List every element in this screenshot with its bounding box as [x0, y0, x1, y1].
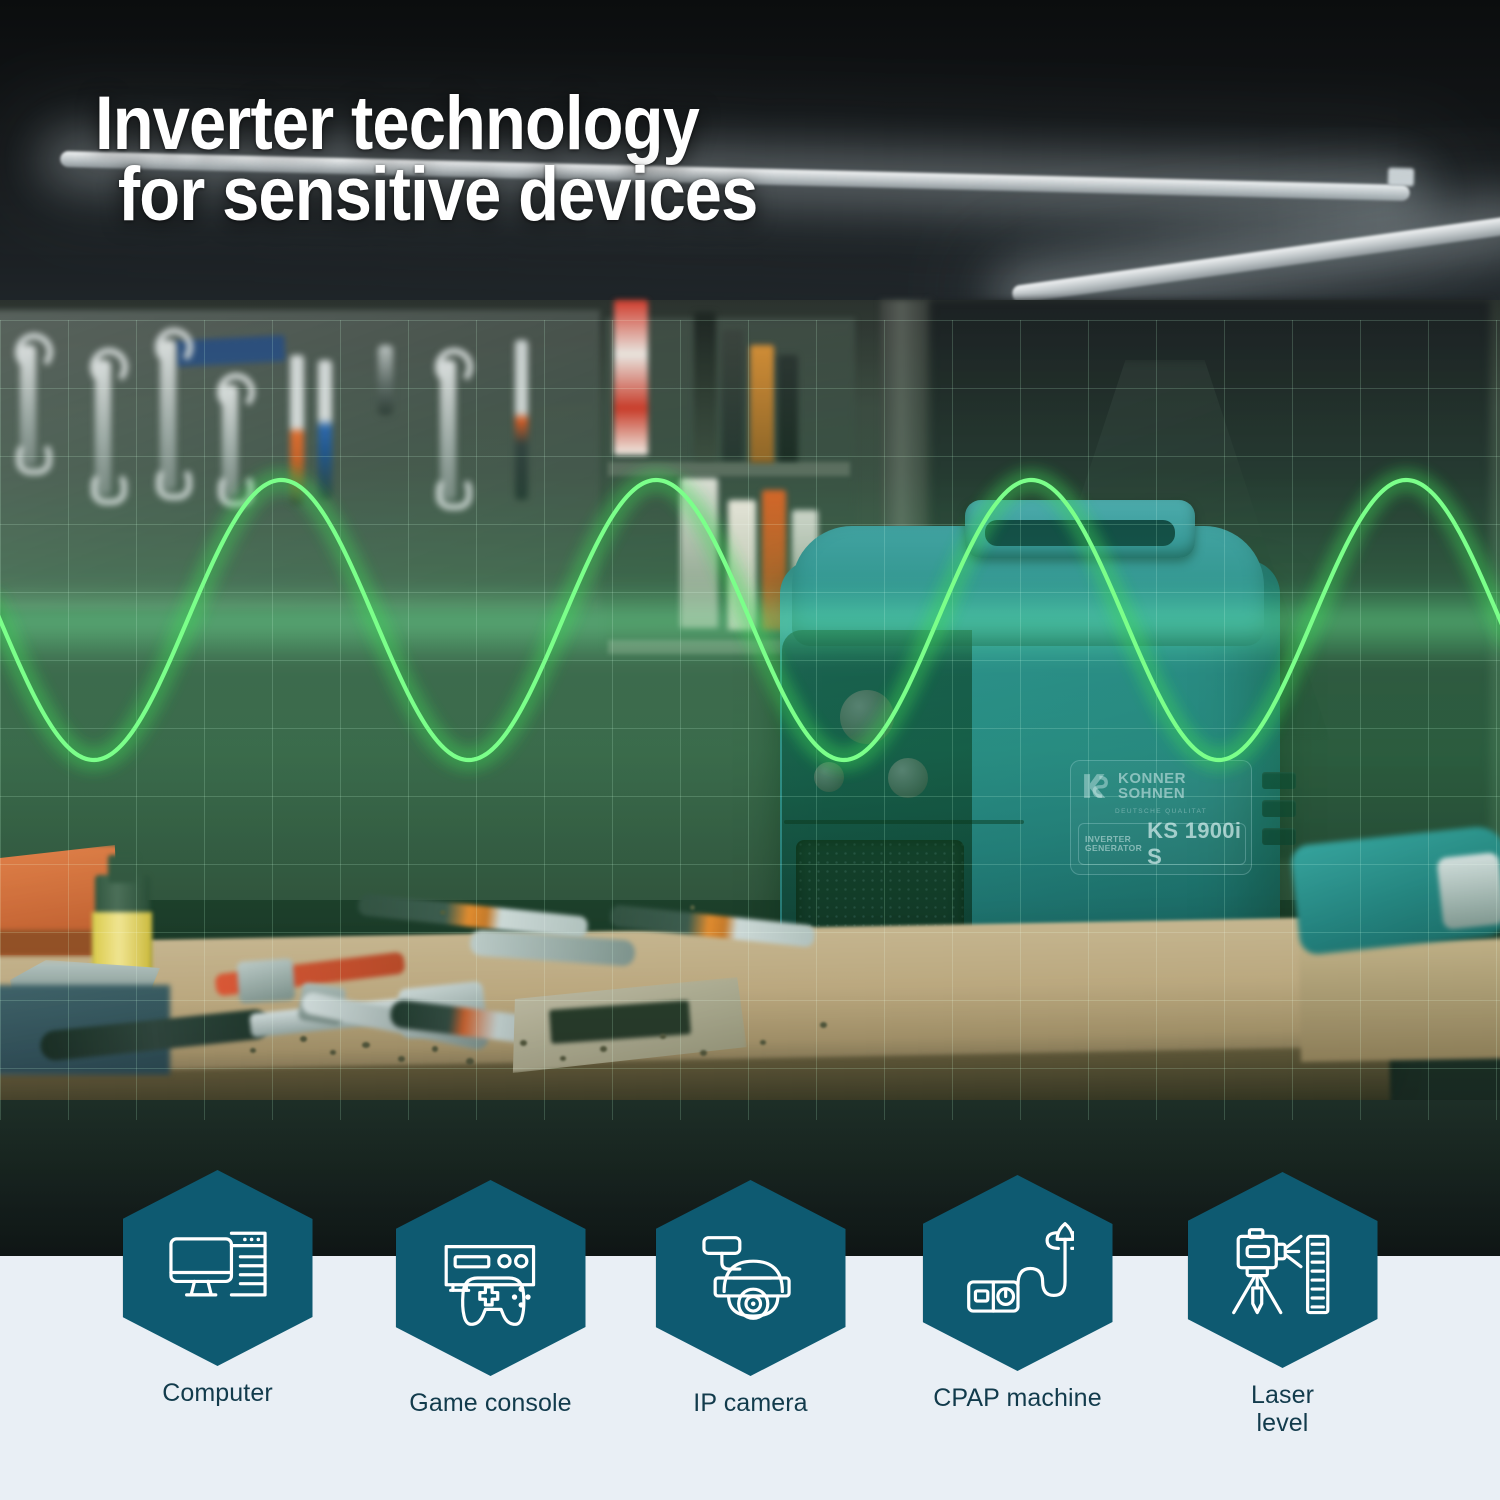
- generator-handle-slot: [985, 520, 1175, 546]
- device-label: Laserlevel: [1180, 1382, 1385, 1437]
- generator-seam: [784, 820, 1024, 824]
- model-designation: INVERTER GENERATOR KS 1900i S: [1078, 823, 1246, 865]
- generator-socket: [814, 762, 844, 792]
- bottle: [750, 345, 774, 463]
- device-hex-ip-camera[interactable]: [656, 1180, 846, 1376]
- wrench-icon: [440, 360, 456, 500]
- generator-knob: [888, 758, 928, 798]
- headline-line-2: for sensitive devices: [118, 159, 940, 230]
- socket-piece: [237, 958, 296, 1004]
- wrench-icon: [378, 345, 393, 415]
- device-label: Game console: [388, 1390, 593, 1418]
- debris: [660, 1034, 666, 1039]
- wrench-icon: [20, 345, 36, 465]
- generator-knob: [840, 690, 894, 744]
- spray-bottle: [614, 300, 648, 455]
- device-label: CPAP machine: [915, 1385, 1120, 1413]
- device-hex-cpap-machine[interactable]: [923, 1175, 1113, 1371]
- debris: [398, 1056, 405, 1062]
- wrench-icon: [95, 360, 111, 495]
- debris: [300, 1036, 307, 1042]
- device-hex-computer[interactable]: [123, 1170, 313, 1366]
- debris: [600, 1046, 607, 1052]
- ip-camera-icon: [695, 1222, 807, 1334]
- list-item[interactable]: CPAP machine: [915, 1175, 1120, 1413]
- screwdriver-icon: [515, 340, 528, 500]
- wrench-icon: [160, 340, 176, 490]
- pliers-icon: [290, 355, 304, 505]
- wrench-icon: [222, 385, 238, 497]
- device-list: Computer: [0, 1150, 1500, 1500]
- debris: [432, 1046, 438, 1052]
- generator-type: INVERTER GENERATOR: [1085, 835, 1142, 854]
- bottle: [728, 500, 756, 630]
- debris: [820, 1022, 827, 1028]
- game-console-icon: [435, 1222, 547, 1334]
- shelf-plank: [608, 462, 850, 476]
- list-item[interactable]: IP camera: [648, 1180, 853, 1418]
- debris: [440, 910, 446, 915]
- marketing-banner: KONNER SOHNEN DEUTSCHE QUALITAT INVERTER…: [0, 0, 1500, 1500]
- drill-chuck: [1436, 852, 1500, 930]
- debris: [700, 1050, 707, 1056]
- device-hex-game-console[interactable]: [396, 1180, 586, 1376]
- debris: [466, 1058, 474, 1065]
- spray-can: [680, 478, 718, 628]
- debris: [760, 1040, 766, 1045]
- generator-slot: [1262, 800, 1296, 817]
- ks-monogram-icon: [1079, 769, 1113, 803]
- brand-lockup: KONNER SOHNEN: [1079, 769, 1186, 803]
- brand-tagline: DEUTSCHE QUALITAT: [1115, 808, 1207, 815]
- product-label: KONNER SOHNEN DEUTSCHE QUALITAT INVERTER…: [1070, 760, 1252, 875]
- computer-icon: [162, 1212, 274, 1324]
- brand-name: KONNER SOHNEN: [1118, 771, 1186, 801]
- cpap-machine-icon: [962, 1217, 1074, 1329]
- debris: [362, 1042, 370, 1048]
- device-label: Computer: [115, 1380, 320, 1408]
- pliers-icon: [318, 360, 332, 500]
- generator-side-slots: [1262, 772, 1296, 856]
- laser-level-icon: [1227, 1214, 1339, 1326]
- debris: [560, 1056, 566, 1061]
- generator-slot: [1262, 772, 1296, 789]
- lamp-end-cap: [1388, 168, 1414, 187]
- bottle: [778, 355, 798, 461]
- oil-bottle-cap: [108, 855, 138, 883]
- list-item[interactable]: Game console: [388, 1180, 593, 1418]
- debris: [250, 1048, 256, 1053]
- list-item[interactable]: Laserlevel: [1180, 1172, 1385, 1437]
- device-hex-laser-level[interactable]: [1188, 1172, 1378, 1368]
- model-number: KS 1900i S: [1147, 818, 1245, 870]
- device-label: IP camera: [648, 1390, 853, 1418]
- debris: [690, 905, 695, 910]
- debris: [520, 1040, 527, 1046]
- page-title: Inverter technology for sensitive device…: [95, 88, 940, 231]
- generator-slot: [1262, 828, 1296, 845]
- workbench-right: [1299, 938, 1500, 1062]
- bottle: [722, 330, 744, 460]
- bottle: [694, 312, 716, 460]
- list-item[interactable]: Computer: [115, 1170, 320, 1408]
- debris: [330, 1050, 336, 1055]
